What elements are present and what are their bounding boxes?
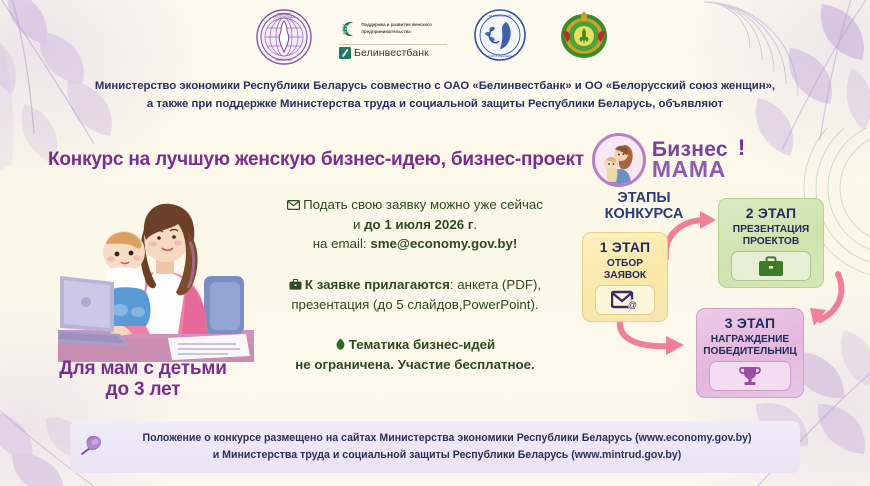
attachments-info: К заявке прилагаются: анкета (PDF), през… (250, 276, 580, 315)
stages-section: ЭТАПЫ КОНКУРСА 1 ЭТАП ОТБОР ЗАЯВОК (578, 190, 870, 410)
audience-line-1: Для мам с детьми (28, 358, 258, 379)
stage-1-sub-line-1: ОТБОР (587, 258, 663, 270)
leaf-icon (335, 337, 346, 356)
ministry-economy-emblem: РЕСПУБЛИКА БЕЛАРУСЬ (255, 8, 313, 66)
stage-1-sub-line-2: ЗАЯВОК (587, 270, 663, 282)
title-exclamation: ! (738, 135, 745, 161)
stages-title-line-1: ЭТАПЫ (586, 190, 702, 206)
application-line-1-row: Подать свою заявку можно уже сейчас (250, 196, 580, 216)
stages-title: ЭТАПЫ КОНКУРСА (586, 190, 702, 222)
mother-with-baby-illustration (58, 172, 254, 362)
header-statement: Министерство экономики Республики Белару… (0, 78, 870, 113)
bank-divider (339, 44, 447, 45)
pushpin-icon (76, 432, 106, 462)
bank-mark-icon (339, 47, 351, 59)
belinvestbank-logo: Поддержка и развитие женского предприним… (339, 16, 447, 59)
logo-strip: РЕСПУБЛИКА БЕЛАРУСЬ Поддержка и развитие… (0, 4, 870, 70)
svg-text:@: @ (628, 300, 637, 310)
stage-3-sub-line-1: НАГРАЖДЕНИЕ (701, 334, 799, 346)
envelope-icon (287, 197, 300, 216)
stage-card-3[interactable]: 3 ЭТАП НАГРАЖДЕНИЕ ПОБЕДИТЕЛЬНИЦ (696, 308, 804, 398)
briefcase-icon (289, 277, 302, 296)
theme-line-1: Тематика бизнес-идей (349, 337, 495, 352)
application-line-2-suffix: . (473, 217, 477, 232)
bank-name: Белинвестбанк (354, 47, 429, 59)
brand-logo: Бизнес МАМА (592, 133, 728, 187)
stages-title-line-2: КОНКУРСА (586, 206, 702, 222)
application-line-3-row: на email: sme@economy.gov.by! (250, 235, 580, 254)
stage-2-sub-line-2: ПРОЕКТОВ (723, 236, 819, 248)
theme-line-2: не ограничена. Участие бесплатное. (250, 356, 580, 375)
stage-3-subtitle: НАГРАЖДЕНИЕ ПОБЕДИТЕЛЬНИЦ (701, 334, 799, 357)
ministry-labour-emblem (557, 8, 615, 66)
svg-text:РЕСПУБЛИКА: РЕСПУБЛИКА (273, 15, 295, 19)
stage-3-number: 3 ЭТАП (701, 315, 799, 331)
briefcase-icon (758, 256, 784, 277)
application-email-label: на email: (313, 236, 371, 251)
svg-text:БЕЛАРУСЬ: БЕЛАРУСЬ (276, 58, 293, 62)
stage-1-icon-box: @ (595, 285, 655, 315)
stage-1-subtitle: ОТБОР ЗАЯВОК (587, 258, 663, 281)
application-line-1: Подать свою заявку можно уже сейчас (303, 197, 543, 212)
stage-3-sub-line-2: ПОБЕДИТЕЛЬНИЦ (701, 346, 799, 358)
attachments-line-2: презентация (до 5 слайдов,PowerPoint). (250, 296, 580, 315)
stage-2-number: 2 ЭТАП (723, 205, 819, 221)
attachments-rest: : анкета (PDF), (450, 277, 541, 292)
application-line-2-prefix: и (353, 217, 364, 232)
svg-text:БЕЛОРУССКИЙ: БЕЛОРУССКИЙ (489, 14, 512, 18)
envelope-at-icon: @ (611, 290, 639, 310)
trophy-icon (739, 365, 761, 387)
stage-2-subtitle: ПРЕЗЕНТАЦИЯ ПРОЕКТОВ (723, 224, 819, 247)
application-info: Подать свою заявку можно уже сейчас и до… (250, 196, 580, 254)
bank-slogan: Поддержка и развитие женского предприним… (361, 22, 447, 35)
audience-line-2: до 3 лет (28, 379, 258, 400)
header-line-2: а также при поддержке Министерства труда… (0, 96, 870, 114)
audience-note: Для мам с детьми до 3 лет (28, 358, 258, 401)
application-line-2-row: и до 1 июля 2026 г. (250, 216, 580, 235)
footer-line-2: и Министерства труда и социальной защиты… (112, 447, 782, 464)
svg-text:СОЮЗ ЖЕНЩИН: СОЮЗ ЖЕНЩИН (488, 54, 512, 58)
brand-mother-baby-icon (592, 133, 646, 187)
belarusian-union-of-women-emblem: БЕЛОРУССКИЙ СОЮЗ ЖЕНЩИН (473, 8, 531, 66)
application-deadline: до 1 июля 2026 г (364, 217, 473, 232)
info-column: Подать свою заявку можно уже сейчас и до… (250, 196, 580, 375)
stage-1-number: 1 ЭТАП (587, 239, 663, 255)
poster-canvas: РЕСПУБЛИКА БЕЛАРУСЬ Поддержка и развитие… (0, 0, 870, 486)
stage-card-2[interactable]: 2 ЭТАП ПРЕЗЕНТАЦИЯ ПРОЕКТОВ (718, 198, 824, 288)
page-title: Конкурс на лучшую женскую бизнес-идею, б… (48, 149, 584, 171)
stage-card-1[interactable]: 1 ЭТАП ОТБОР ЗАЯВОК @ (582, 232, 668, 322)
stage-3-icon-box (709, 361, 791, 391)
stage-2-icon-box (731, 251, 811, 281)
application-email[interactable]: sme@economy.gov.by! (370, 236, 517, 251)
footer-text: Положение о конкурсе размещено на сайтах… (106, 430, 800, 464)
theme-line-1-row: Тематика бизнес-идей (250, 336, 580, 356)
header-line-1: Министерство экономики Республики Белару… (0, 78, 870, 96)
footer-banner: Положение о конкурсе размещено на сайтах… (70, 421, 800, 473)
stage-2-sub-line-1: ПРЕЗЕНТАЦИЯ (723, 224, 819, 236)
attachments-line-1-row: К заявке прилагаются: анкета (PDF), (250, 276, 580, 296)
theme-info: Тематика бизнес-идей не ограничена. Учас… (250, 336, 580, 375)
bank-emblem-icon (339, 16, 357, 42)
brand-line-2: МАМА (652, 159, 728, 180)
footer-line-1: Положение о конкурсе размещено на сайтах… (112, 430, 782, 447)
attachments-label: К заявке прилагаются (305, 277, 450, 292)
